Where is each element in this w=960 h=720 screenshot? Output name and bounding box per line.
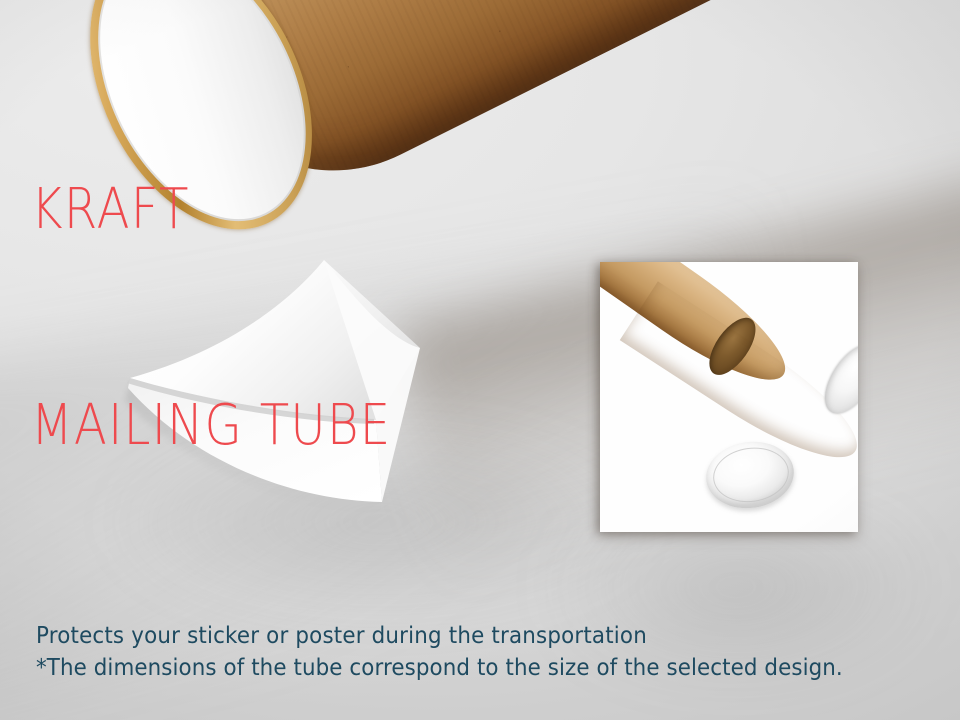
feature-description: Protects your sticker or poster during t… xyxy=(36,556,704,720)
page-title: KRAFT MAILING TUBE xyxy=(31,30,392,606)
footnote-text: *The dimensions of the tube correspond t… xyxy=(36,653,843,683)
inset-loose-end-cap xyxy=(702,436,798,514)
product-promo-image: KRAFT MAILING TUBE Protects your sticker… xyxy=(0,0,960,720)
headline-line-1: KRAFT xyxy=(31,174,392,246)
feature-line-2: Plastic end caps fit tightly to secure t… xyxy=(36,716,704,720)
inset-product-photo xyxy=(600,262,858,532)
headline-line-2: MAILING TUBE xyxy=(31,390,392,462)
feature-line-1: Protects your sticker or poster during t… xyxy=(36,620,704,652)
inset-photo-canvas xyxy=(600,262,858,532)
